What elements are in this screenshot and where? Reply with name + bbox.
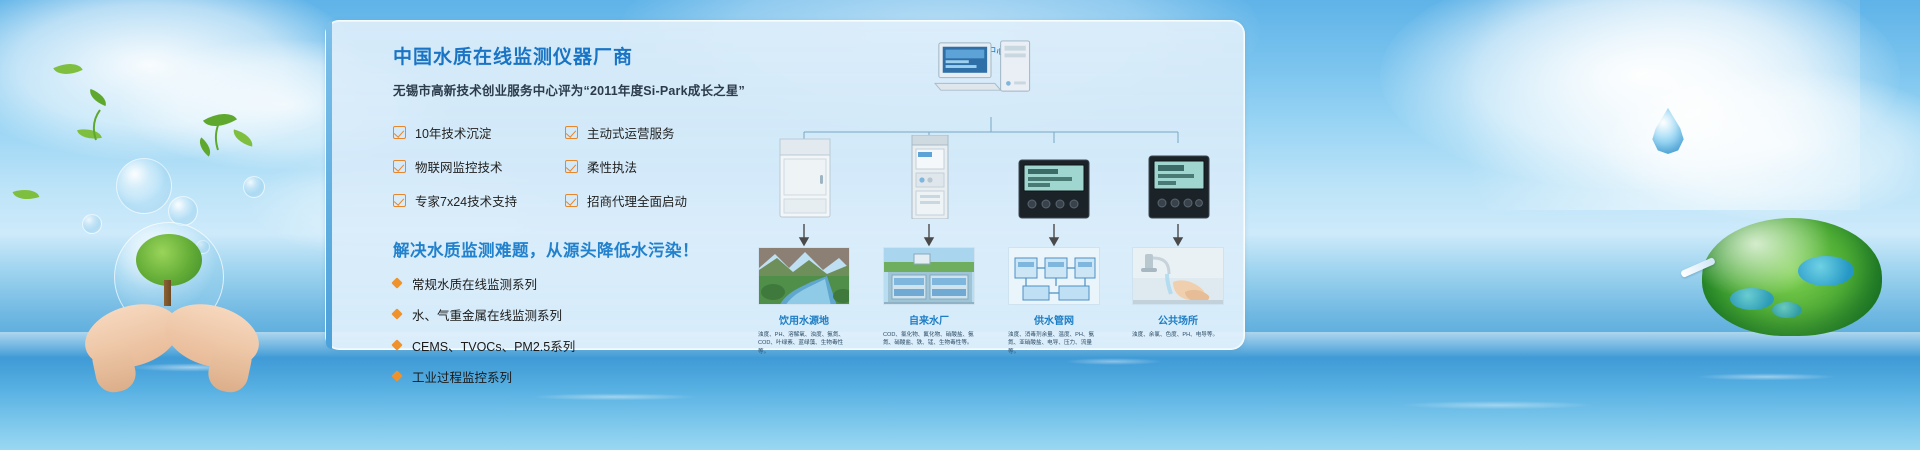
series-label: 常规水质在线监测系列 (412, 274, 537, 293)
feature-item[interactable]: 专家7x24技术支持 (393, 191, 565, 210)
feature-item[interactable]: 物联网监控技术 (393, 157, 565, 176)
list-item[interactable]: 工业过程监控系列 (393, 367, 773, 386)
scene-title: 公共场所 (1132, 312, 1224, 327)
diamond-bullet-icon (391, 309, 402, 320)
series-label: CEMS、TVOCs、PM2.5系列 (412, 336, 575, 355)
bubble-icon (243, 176, 265, 198)
product-series-list: 常规水质在线监测系列 水、气重金属在线监测系列 CEMS、TVOCs、PM2.5… (393, 274, 773, 386)
leaf-icon (87, 89, 110, 106)
feature-item[interactable]: 招商代理全面启动 (565, 191, 737, 210)
globe-water (1772, 302, 1802, 318)
page-subtitle: 无锡市高新技术创业服务中心评为“2011年度Si-Park成长之星” (393, 80, 773, 99)
diamond-bullet-icon (391, 340, 402, 351)
tree-crown (136, 234, 202, 286)
scene-title: 饮用水源地 (758, 312, 850, 327)
leaf-icon (77, 126, 102, 142)
monitoring-computer-icon (931, 39, 1051, 95)
scene-description: 浊度、消毒剂余量、温度、PH、氨氮、亚硝酸盐、电导、压力、流量等。 (1008, 331, 1100, 356)
cloud-icon (1600, 70, 1920, 220)
scene-card[interactable]: 饮用水源地 浊度、PH、溶解氧、浊度、氨氮、COD、叶绿素、蓝绿藻、生物毒性等。 (758, 247, 850, 356)
check-icon (393, 126, 406, 139)
feature-label: 物联网监控技术 (415, 157, 503, 176)
scene-title: 供水管网 (1008, 312, 1100, 327)
series-label: 水、气重金属在线监测系列 (412, 305, 562, 324)
globe-ball (1702, 218, 1882, 336)
diamond-bullet-icon (391, 371, 402, 382)
leaf-icon (231, 129, 255, 146)
scene-title: 自来水厂 (883, 312, 975, 327)
device-panel-controller-narrow[interactable] (1148, 155, 1210, 224)
system-diagram: 监控中心站 (756, 39, 1226, 344)
bubble-icon (116, 158, 172, 214)
leaf-icon (195, 137, 215, 156)
left-content-column: 中国水质在线监测仪器厂商 无锡市高新技术创业服务中心评为“2011年度Si-Pa… (393, 47, 773, 386)
feature-label: 柔性执法 (587, 157, 637, 176)
list-item[interactable]: 水、气重金属在线监测系列 (393, 305, 773, 324)
check-icon (393, 160, 406, 173)
feature-label: 10年技术沉淀 (415, 123, 491, 142)
check-icon (565, 126, 578, 139)
check-icon (565, 160, 578, 173)
pipe-network-photo (1008, 247, 1100, 305)
leaf-icon (13, 185, 40, 205)
scene-card[interactable]: 供水管网 浊度、消毒剂余量、温度、PH、氨氮、亚硝酸盐、电导、压力、流量等。 (1008, 247, 1100, 356)
device-cabinet-analyzer[interactable] (776, 137, 834, 224)
cloud-icon (0, 0, 360, 160)
scene-description: 浊度、余氯、色度、PH、电导等。 (1132, 331, 1224, 339)
feature-label: 专家7x24技术支持 (415, 191, 517, 210)
list-item[interactable]: 常规水质在线监测系列 (393, 274, 773, 293)
device-panel-controller-wide[interactable] (1018, 159, 1090, 224)
feature-item[interactable]: 柔性执法 (565, 157, 737, 176)
scene-description: COD、氯化物、氟化物、硝酸盐、氨氮、硝酸盐、铁、锰、生物毒性等。 (883, 331, 975, 348)
water-plant-photo (883, 247, 975, 305)
check-icon (565, 194, 578, 207)
leaf-icon (53, 57, 82, 81)
green-earth-globe-icon (1702, 218, 1882, 338)
globe-water (1730, 288, 1774, 310)
feature-item[interactable]: 10年技术沉淀 (393, 123, 565, 142)
scene-card[interactable]: 自来水厂 COD、氯化物、氟化物、硝酸盐、氨氮、硝酸盐、铁、锰、生物毒性等。 (883, 247, 975, 348)
scene-card[interactable]: 公共场所 浊度、余氯、色度、PH、电导等。 (1132, 247, 1224, 339)
device-rack-analyzer[interactable] (906, 135, 954, 224)
public-place-photo (1132, 247, 1224, 305)
leaf-icon (203, 106, 237, 135)
page-title: 中国水质在线监测仪器厂商 (393, 47, 773, 70)
cloud-icon (1380, 0, 1900, 190)
cabinet-analyzer-icon (776, 137, 834, 219)
sun-glow (1440, 0, 1860, 210)
tree-trunk (164, 280, 171, 306)
feature-item[interactable]: 主动式运营服务 (565, 123, 737, 142)
scene-description: 浊度、PH、溶解氧、浊度、氨氮、COD、叶绿素、蓝绿藻、生物毒性等。 (758, 331, 850, 356)
water-drop-icon (1651, 108, 1685, 154)
check-icon (393, 194, 406, 207)
river-source-photo (758, 247, 850, 305)
device-row (756, 134, 1226, 224)
list-item[interactable]: CEMS、TVOCs、PM2.5系列 (393, 336, 773, 355)
panel-meter-icon (1148, 155, 1210, 219)
section-title: 解决水质监测难题，从源头降低水污染！ (393, 237, 773, 261)
monitoring-center-node[interactable]: 监控中心站 (931, 39, 1051, 58)
series-label: 工业过程监控系列 (412, 367, 512, 386)
rack-analyzer-icon (906, 135, 954, 219)
diamond-bullet-icon (391, 278, 402, 289)
content-panel: 中国水质在线监测仪器厂商 无锡市高新技术创业服务中心评为“2011年度Si-Pa… (325, 20, 1245, 350)
feature-label: 招商代理全面启动 (587, 191, 687, 210)
panel-meter-icon (1018, 159, 1090, 219)
hands-holding-tree-icon (78, 222, 268, 377)
feature-checklist: 10年技术沉淀 主动式运营服务 物联网监控技术 柔性执法 专家7x24技术支持 … (393, 123, 773, 210)
feature-label: 主动式运营服务 (587, 123, 675, 142)
globe-water (1798, 256, 1854, 286)
